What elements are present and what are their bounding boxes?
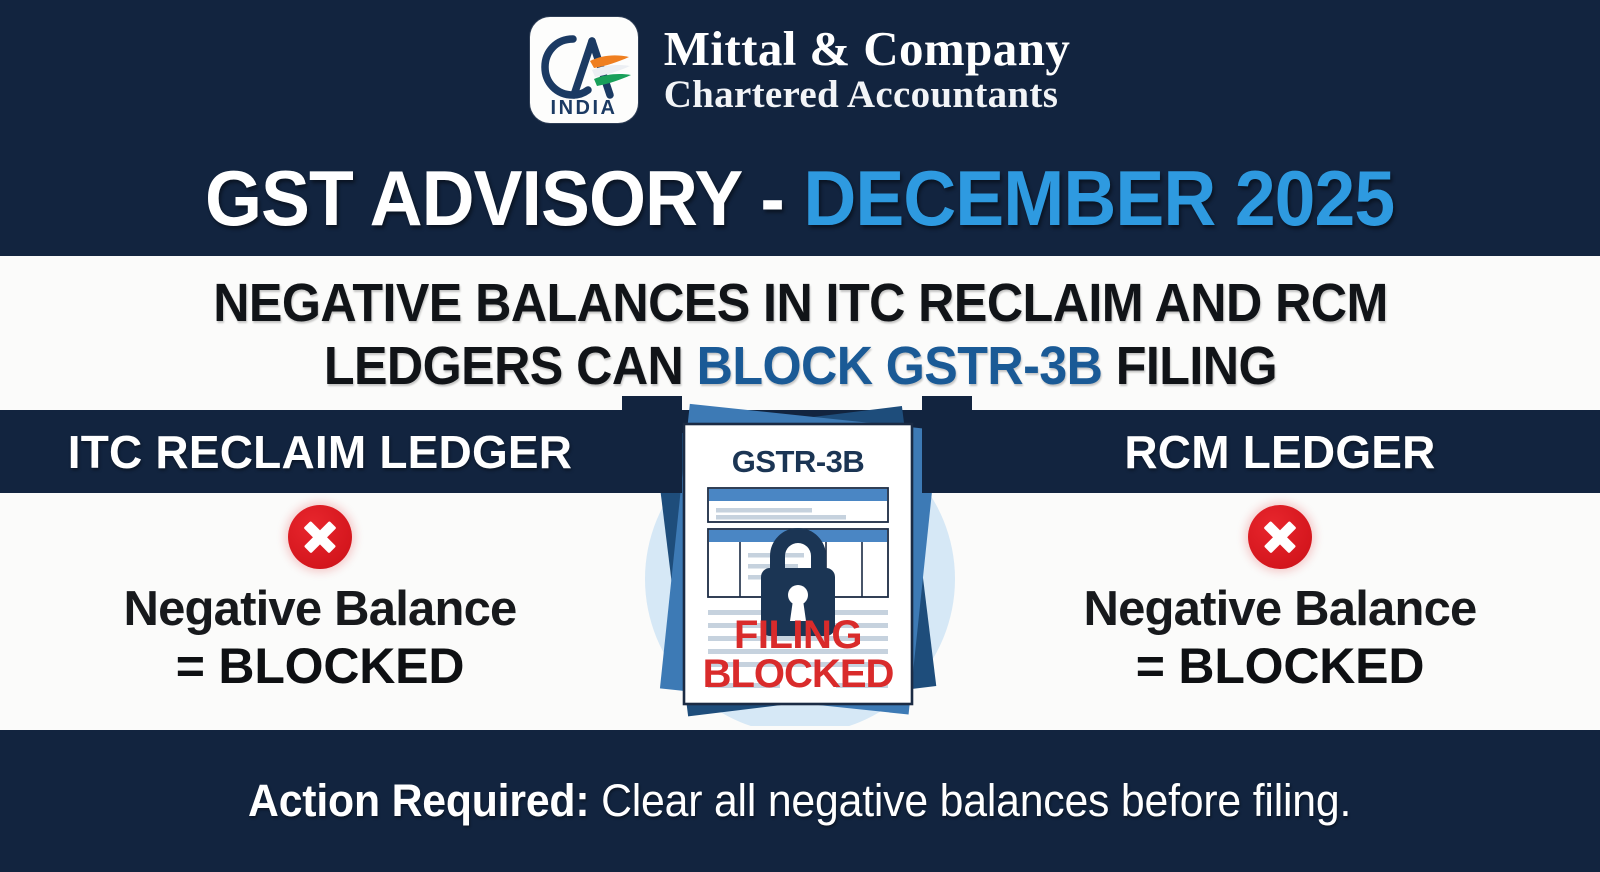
headline-line-2: LEDGERS CAN BLOCK GSTR-3B FILING [323,335,1276,398]
headline-line-2-accent: BLOCK GSTR-3B [696,336,1102,396]
status-card-right-line2: = BLOCKED [1136,639,1425,694]
advisory-title-bar: GST ADVISORY - DECEMBER 2025 [0,140,1600,256]
status-card-left-line1: Negative Balance [123,583,516,637]
status-card-rcm: Negative Balance = BLOCKED [960,493,1600,730]
advisory-title-primary: GST ADVISORY [205,154,741,242]
brand-header: INDIA Mittal & Company Chartered Account… [0,0,1600,140]
advisory-title-month: DECEMBER 2025 [804,154,1395,242]
ledger-label-rcm: RCM LEDGER [960,410,1600,493]
headline-section: NEGATIVE BALANCES IN ITC RECLAIM AND RCM… [0,256,1600,410]
headline-line-2-before: LEDGERS CAN [323,336,682,396]
ledger-label-itc-reclaim: ITC RECLAIM LEDGER [0,410,640,493]
advisory-title: GST ADVISORY - DECEMBER 2025 [205,153,1394,244]
red-cross-icon [288,505,352,569]
company-name: Mittal & Company [664,24,1071,75]
action-required-label: Action Required: [248,775,589,826]
svg-text:INDIA: INDIA [550,97,617,119]
brand-text-block: Mittal & Company Chartered Accountants [664,24,1071,116]
ca-india-logo-icon: INDIA [530,17,638,123]
ledger-label-bar: ITC RECLAIM LEDGER RCM LEDGER [0,410,1600,493]
status-cards-section: Negative Balance = BLOCKED Negative Bala… [0,493,1600,730]
red-cross-icon [1248,505,1312,569]
company-subtitle: Chartered Accountants [664,75,1071,116]
headline-line-2-after: FILING [1115,336,1276,396]
status-card-itc-reclaim: Negative Balance = BLOCKED [0,493,640,730]
status-card-right-line1: Negative Balance [1083,583,1476,637]
headline-line-1: NEGATIVE BALANCES IN ITC RECLAIM AND RCM [213,272,1388,335]
action-required-instruction: Clear all negative balances before filin… [590,775,1352,826]
advisory-title-dash: - [761,154,784,242]
ca-india-logo: INDIA [530,17,638,123]
status-card-left-line2: = BLOCKED [176,639,465,694]
action-required-bar: Action Required: Clear all negative bala… [0,730,1600,872]
action-required-text: Action Required: Clear all negative bala… [248,775,1351,827]
